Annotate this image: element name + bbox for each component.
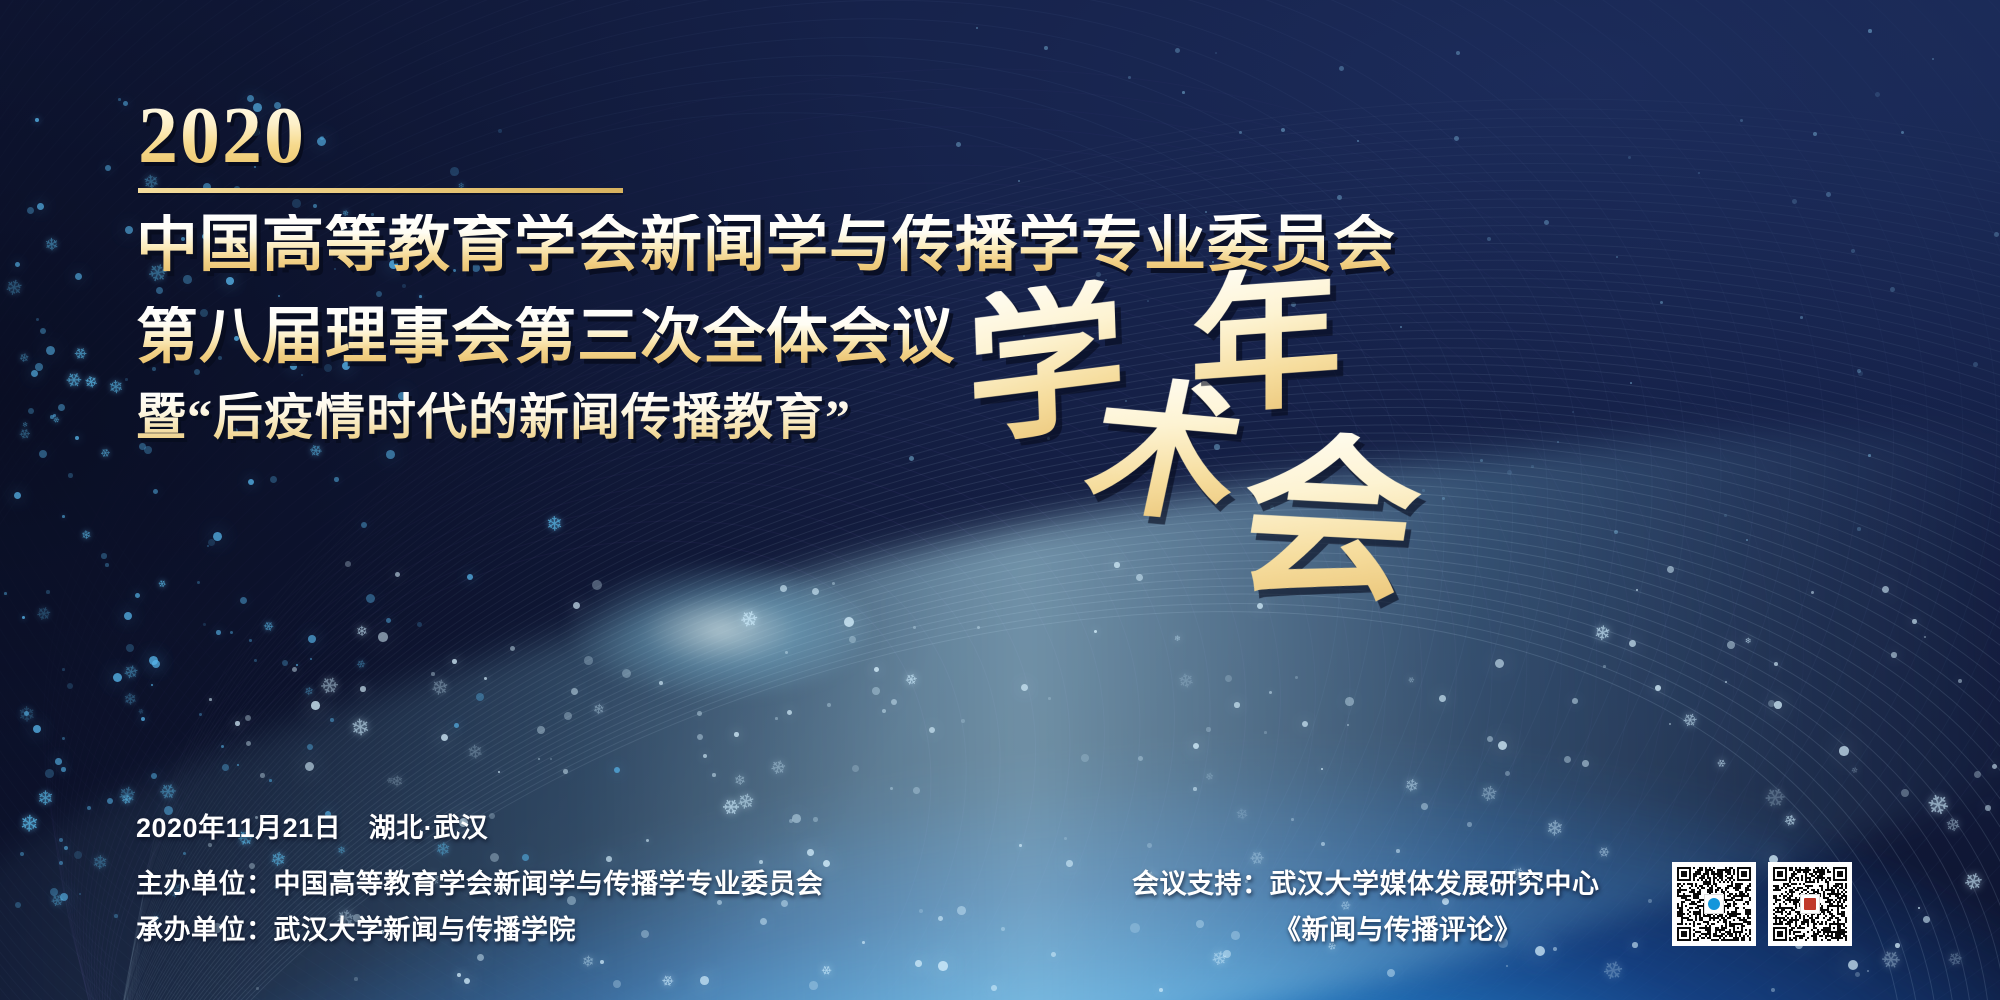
journal-qr[interactable] [1768, 862, 1852, 946]
calligraphy-xueshu-nianhui: 学 术 年 会 [960, 282, 1440, 612]
host-text: 承办单位：武汉大学新闻与传播学院 [136, 908, 576, 947]
title-line-2: 第八届理事会第三次全体会议 [136, 306, 955, 368]
organizer-text: 主办单位：中国高等教育学会新闻学与传播学专业委员会 [136, 862, 824, 901]
year-heading: 2020 [138, 96, 306, 176]
conference-subtitle: 暨“后疫情时代的新闻传播教育” [136, 392, 851, 442]
calligraphy-char-hui: 会 [1226, 428, 1432, 614]
gold-divider-rule [138, 188, 623, 193]
wechat-logo-icon [1704, 894, 1724, 914]
banner-content: 2020 中国高等教育学会新闻学与传播学专业委员会 第八届理事会第三次全体会议 … [0, 0, 2000, 1000]
qr-code-group [1672, 862, 1852, 946]
conference-banner: ❄❄❄❄❄❄❄❄❄❄❄❄❄❄❄❄❄❄❄❄❄❄❄❄❄❄❄❄❄❄❄❄❄❄❄❄❄❄❄❄… [0, 0, 2000, 1000]
journal-logo-icon [1800, 894, 1820, 914]
date-location-text: 2020年11月21日 湖北·武汉 [136, 806, 488, 845]
support-journal-text: 《新闻与传播评论》 [1274, 908, 1522, 947]
calligraphy-char-nian: 年 [1190, 263, 1342, 426]
support-text: 会议支持：武汉大学媒体发展研究中心 [1132, 862, 1600, 901]
wechat-official-account-qr[interactable] [1672, 862, 1756, 946]
